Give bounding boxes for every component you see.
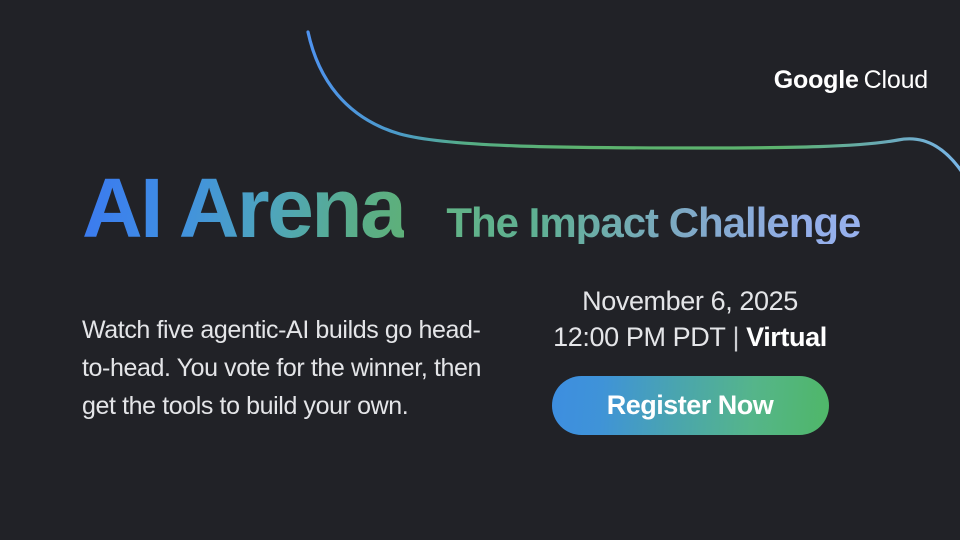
brand-cloud-text: Cloud xyxy=(864,66,928,94)
event-mode: Virtual xyxy=(746,322,827,352)
event-date: November 6, 2025 xyxy=(500,283,880,319)
event-description: Watch five agentic-AI builds go head-to-… xyxy=(82,311,482,425)
brand-google-text: Google xyxy=(774,66,859,94)
event-time-and-mode: 12:00 PM PDT|Virtual xyxy=(500,319,880,355)
headline-row: AI Arena The Impact Challenge xyxy=(82,166,860,250)
event-meta-separator: | xyxy=(732,319,739,355)
page-title: AI Arena xyxy=(82,166,404,250)
google-cloud-logo: GoogleCloud xyxy=(774,68,928,93)
cta-container: Register Now xyxy=(500,376,880,435)
page-subtitle: The Impact Challenge xyxy=(446,202,860,244)
event-time: 12:00 PM PDT xyxy=(553,322,725,352)
register-now-button[interactable]: Register Now xyxy=(552,376,829,435)
event-details-block: November 6, 2025 12:00 PM PDT|Virtual Re… xyxy=(500,283,880,435)
event-banner: GoogleCloud AI Arena The Impact Challeng… xyxy=(0,0,960,540)
